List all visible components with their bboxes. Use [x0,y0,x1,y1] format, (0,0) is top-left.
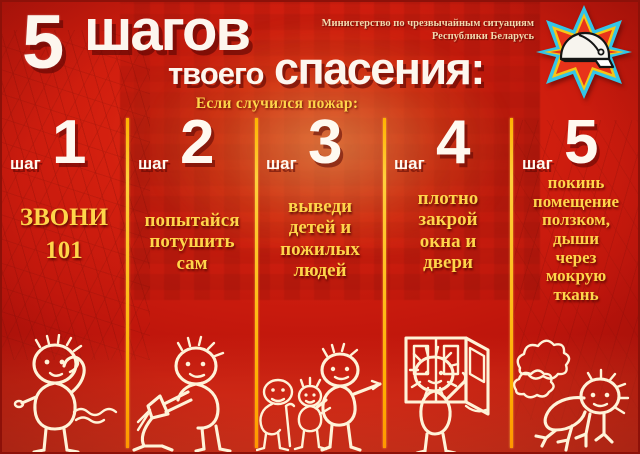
column-divider-2 [255,118,258,448]
step-4-illustration [384,334,512,454]
title-word-rescue: спасения: [274,46,484,91]
step-column-4: шаг 4 плотно закрой окна и двери [384,118,512,454]
step-2-heading: шаг 2 [128,120,256,182]
step-4-label: шаг [394,154,425,174]
star-helmet-icon [534,4,634,100]
step-5-illustration [512,334,640,454]
adult-leading-child-and-elderly-icon [256,334,384,454]
step-1-label: шаг [10,154,41,174]
step-3-number: 3 [308,112,342,174]
ministry-line-1: Министерство по чрезвычайным ситуациям [284,18,534,31]
step-4-number: 4 [436,112,470,174]
person-calling-phone-icon [0,334,128,454]
step-3-label: шаг [266,154,297,174]
step-2-text: попытайся потушить сам [130,210,254,274]
title-word-your: твоего [168,58,263,89]
steps-row: шаг 1 ЗВОНИ 101 [0,118,640,454]
step-4-text: плотно закрой окна и двери [386,188,510,273]
adult-person-pointing [316,344,380,450]
step-3-text: выведи детей и пожилых людей [258,196,382,281]
step-5-label: шаг [522,154,553,174]
step-column-3: шаг 3 выведи детей и пожилых людей [256,118,384,454]
mchs-emblem [534,4,634,100]
smoke-clouds [514,341,569,398]
column-divider-1 [126,118,129,448]
person-closing-window-icon [384,334,512,454]
poster-header: 5 шагов твоего спасения: Министерство по… [0,0,640,120]
step-2-number: 2 [180,112,214,174]
step-5-text: покинь помещение ползком, дыши через мок… [514,174,638,305]
step-5-number: 5 [564,112,598,174]
poster-title: 5 шагов твоего спасения: [8,2,568,98]
column-divider-4 [510,118,513,448]
ministry-line-2: Республики Беларусь [284,31,534,44]
step-3-heading: шаг 3 [256,120,384,182]
step-4-heading: шаг 4 [384,120,512,182]
step-2-label: шаг [138,154,169,174]
elderly-person [257,380,294,450]
step-1-illustration [0,334,128,454]
ministry-caption: Министерство по чрезвычайным ситуациям Р… [284,18,534,44]
person-crawling-under-smoke-icon [512,334,640,454]
step-column-2: шаг 2 попытайся потушить сам [128,118,256,454]
person-with-fire-extinguisher-icon [128,334,256,454]
step-1-number: 1 [52,112,86,174]
step-column-5: шаг 5 покинь помещение ползком, дыши чер… [512,118,640,454]
window-open-sash [466,338,488,414]
step-3-illustration [256,334,384,454]
step-1-heading: шаг 1 [0,120,128,182]
title-number-five: 5 [22,8,61,78]
fire-safety-poster: 5 шагов твоего спасения: Министерство по… [0,0,640,454]
title-word-steps: шагов [84,2,249,60]
step-column-1: шаг 1 ЗВОНИ 101 [0,118,128,454]
step-1-text: ЗВОНИ 101 [2,202,126,267]
step-2-illustration [128,334,256,454]
column-divider-3 [383,118,386,448]
